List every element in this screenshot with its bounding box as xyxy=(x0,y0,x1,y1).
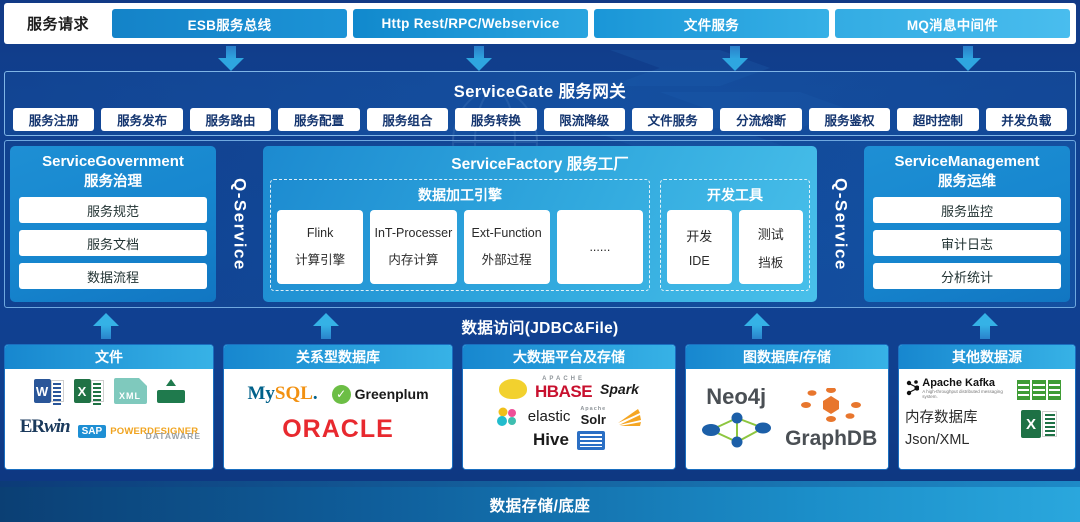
service-platform-band: ServiceGovernment 服务治理 服务规范 服务文档 数据流程 Q-… xyxy=(4,140,1076,308)
other-item-memory-db: 内存数据库 xyxy=(905,406,1009,427)
q-service-label-right: Q-Service xyxy=(817,146,864,302)
elastic-logo: elastic xyxy=(528,408,571,425)
spark-logo: Spark xyxy=(600,381,639,397)
devtool-cell-ide[interactable]: 开发 IDE xyxy=(667,210,732,284)
management-item-analytics[interactable]: 分析统计 xyxy=(873,263,1061,289)
oracle-logo: ORACLE xyxy=(282,415,394,444)
service-governance-panel: ServiceGovernment 服务治理 服务规范 服务文档 数据流程 xyxy=(10,146,216,302)
engine-cell-more[interactable]: ...... xyxy=(557,210,643,284)
management-item-monitor[interactable]: 服务监控 xyxy=(873,197,1061,223)
dev-tools-group: 开发工具 开发 IDE 测试 挡板 xyxy=(660,179,810,291)
engine-cell-flink-line2: 计算引擎 xyxy=(295,249,345,268)
gate-tag-service-compose[interactable]: 服务组合 xyxy=(367,108,448,131)
channel-esb[interactable]: ESB服务总线 xyxy=(112,9,347,38)
source-card-bigdata-header: 大数据平台及存储 xyxy=(463,345,675,369)
engine-cell-ext-function-line1: Ext-Function xyxy=(472,226,542,240)
table-grid-icon xyxy=(1017,380,1061,400)
kafka-logo: Apache Kafka xyxy=(922,377,1009,389)
excel-icon: X xyxy=(1021,410,1057,438)
neo4j-graph-icon xyxy=(697,410,775,450)
source-card-bigdata-body: APACHEHBASE Spark elastic Apache Solr xyxy=(463,369,675,469)
greenplum-logo: ✓Greenplum xyxy=(332,385,429,404)
devtool-cell-test-stub[interactable]: 测试 挡板 xyxy=(739,210,804,284)
data-access-bar: 数据访问(JDBC&File) xyxy=(0,310,1080,344)
dataware-logo: DATAWARE xyxy=(146,431,201,441)
kafka-icon xyxy=(905,380,919,396)
architecture-diagram: 服务请求 ESB服务总线 Http Rest/RPC/Webservice 文件… xyxy=(0,0,1080,522)
arrow-up-icon xyxy=(744,313,770,339)
channel-file[interactable]: 文件服务 xyxy=(594,9,829,38)
sap-logo: SAP xyxy=(78,425,107,438)
engine-cell-more-line1: ...... xyxy=(589,240,610,254)
hbase-logo: APACHEHBASE xyxy=(535,376,592,402)
graphdb-logo: GraphDB xyxy=(780,427,882,451)
source-card-graph-db-title: 图数据库/存储 xyxy=(743,347,831,367)
solr-sun-icon xyxy=(616,407,642,427)
service-gate-panel: ServiceGate 服务网关 服务注册 服务发布 服务路由 服务配置 服务组… xyxy=(4,71,1076,136)
engine-cell-ext-function[interactable]: Ext-Function 外部过程 xyxy=(464,210,550,284)
q-service-text-right: Q-Service xyxy=(831,178,851,271)
source-card-graph-db-body: Neo4j xyxy=(686,369,888,469)
source-card-relational-db[interactable]: 关系型数据库 MySQL. ✓Greenplum ORACLE xyxy=(223,344,453,470)
database-icon xyxy=(157,379,185,403)
arrow-down-icon xyxy=(466,46,492,71)
service-request-bar: 服务请求 ESB服务总线 Http Rest/RPC/Webservice 文件… xyxy=(4,3,1076,44)
engine-cell-flink-line1: Flink xyxy=(307,226,333,240)
hive-doc-icon xyxy=(577,431,605,450)
source-card-bigdata[interactable]: 大数据平台及存储 APACHEHBASE Spark elastic xyxy=(462,344,676,470)
data-storage-foundation-label: 数据存储/底座 xyxy=(490,494,591,516)
management-title-cn: 服务运维 xyxy=(873,170,1061,191)
gate-tag-service-route[interactable]: 服务路由 xyxy=(190,108,271,131)
source-card-other-header: 其他数据源 xyxy=(899,345,1075,369)
gate-tag-service-config[interactable]: 服务配置 xyxy=(278,108,359,131)
source-card-bigdata-title: 大数据平台及存储 xyxy=(513,347,625,367)
dev-tools-title: 开发工具 xyxy=(667,185,803,205)
arrow-up-icon xyxy=(972,313,998,339)
mysql-logo: MySQL. xyxy=(247,383,317,405)
source-card-file-title: 文件 xyxy=(95,347,123,367)
engine-cell-int-processer-line1: InT-Processer xyxy=(374,226,452,240)
arrow-up-icon xyxy=(93,313,119,339)
data-engine-title: 数据加工引擎 xyxy=(277,185,643,205)
devtool-cell-test-stub-line1: 测试 xyxy=(758,224,784,243)
source-card-graph-db[interactable]: 图数据库/存储 Neo4j xyxy=(685,344,889,470)
gate-tag-circuit-breaker[interactable]: 分流熔断 xyxy=(720,108,801,131)
gate-tag-service-transform[interactable]: 服务转换 xyxy=(455,108,536,131)
data-source-card-list: 文件 W X XML ERwin SAP POWE xyxy=(4,344,1076,470)
q-service-label-left: Q-Service xyxy=(216,146,263,302)
arrow-down-icon xyxy=(955,46,981,71)
gate-tag-concurrency-load[interactable]: 并发负载 xyxy=(986,108,1067,131)
gate-tag-timeout-control[interactable]: 超时控制 xyxy=(897,108,978,131)
engine-cell-int-processer[interactable]: InT-Processer 内存计算 xyxy=(370,210,456,284)
source-card-other[interactable]: 其他数据源 Apache Kafka A high xyxy=(898,344,1076,470)
service-factory-title: ServiceFactory 服务工厂 xyxy=(270,152,810,174)
channel-http[interactable]: Http Rest/RPC/Webservice xyxy=(353,9,588,38)
excel-icon: X xyxy=(74,379,104,403)
devtool-cell-ide-line2: IDE xyxy=(689,254,710,268)
arrow-down-icon xyxy=(722,46,748,71)
arrow-up-icon xyxy=(313,313,339,339)
word-icon: W xyxy=(34,379,64,403)
solr-logo: Apache Solr xyxy=(580,406,606,427)
devtool-cell-ide-line1: 开发 xyxy=(686,226,712,245)
service-gate-title: ServiceGate 服务网关 xyxy=(5,78,1075,102)
source-card-relational-db-title: 关系型数据库 xyxy=(296,347,380,367)
governance-item-dataflow[interactable]: 数据流程 xyxy=(19,263,207,289)
engine-cell-flink[interactable]: Flink 计算引擎 xyxy=(277,210,363,284)
service-management-panel: ServiceManagement 服务运维 服务监控 审计日志 分析统计 xyxy=(864,146,1070,302)
hive-logo: Hive xyxy=(533,430,569,450)
governance-item-docs[interactable]: 服务文档 xyxy=(19,230,207,256)
management-title-en: ServiceManagement xyxy=(873,153,1061,170)
data-access-label: 数据访问(JDBC&File) xyxy=(462,316,619,338)
service-gate-tag-list: 服务注册 服务发布 服务路由 服务配置 服务组合 服务转换 限流降级 文件服务 … xyxy=(5,102,1075,131)
source-card-file-body: W X XML ERwin SAP POWERDESIGNER DATAWARE xyxy=(5,369,213,469)
graphdb-icon xyxy=(792,388,870,422)
data-storage-foundation-bar: 数据存储/底座 xyxy=(0,487,1080,522)
source-card-relational-db-header: 关系型数据库 xyxy=(224,345,452,369)
data-processing-engine-group: 数据加工引擎 Flink 计算引擎 InT-Processer 内存计算 Ext… xyxy=(270,179,650,291)
elastic-icon xyxy=(496,407,518,427)
governance-item-spec[interactable]: 服务规范 xyxy=(19,197,207,223)
devtool-cell-test-stub-line2: 挡板 xyxy=(758,252,783,271)
source-card-relational-db-body: MySQL. ✓Greenplum ORACLE xyxy=(224,369,452,469)
other-item-json-xml: Json/XML xyxy=(905,432,1009,448)
erwin-logo: ERwin xyxy=(20,416,70,438)
arrow-down-icon xyxy=(218,46,244,71)
kafka-tagline: A high-throughput distributed messaging … xyxy=(922,389,1009,399)
engine-cell-ext-function-line2: 外部过程 xyxy=(482,249,532,268)
source-card-graph-db-header: 图数据库/存储 xyxy=(686,345,888,369)
source-card-file[interactable]: 文件 W X XML ERwin SAP POWE xyxy=(4,344,214,470)
governance-title-en: ServiceGovernment xyxy=(19,153,207,170)
channel-mq[interactable]: MQ消息中间件 xyxy=(835,9,1070,38)
q-service-text-left: Q-Service xyxy=(230,178,250,271)
service-request-label: 服务请求 xyxy=(10,13,106,34)
source-card-file-header: 文件 xyxy=(5,345,213,369)
gate-tag-service-publish[interactable]: 服务发布 xyxy=(101,108,182,131)
xml-file-icon: XML xyxy=(114,378,147,404)
gate-tag-service-auth[interactable]: 服务鉴权 xyxy=(809,108,890,131)
governance-title-cn: 服务治理 xyxy=(19,170,207,191)
source-card-other-title: 其他数据源 xyxy=(952,347,1022,367)
engine-cell-int-processer-line2: 内存计算 xyxy=(388,249,438,268)
service-factory-panel: ServiceFactory 服务工厂 数据加工引擎 Flink 计算引擎 In… xyxy=(263,146,817,302)
gate-tag-file-service[interactable]: 文件服务 xyxy=(632,108,713,131)
hive-bee-icon xyxy=(499,379,527,399)
management-item-audit-log[interactable]: 审计日志 xyxy=(873,230,1061,256)
neo4j-logo: Neo4j xyxy=(692,384,780,410)
source-card-other-body: Apache Kafka A high-throughput distribut… xyxy=(899,369,1075,469)
gate-tag-service-register[interactable]: 服务注册 xyxy=(13,108,94,131)
gate-tag-rate-limit[interactable]: 限流降级 xyxy=(544,108,625,131)
